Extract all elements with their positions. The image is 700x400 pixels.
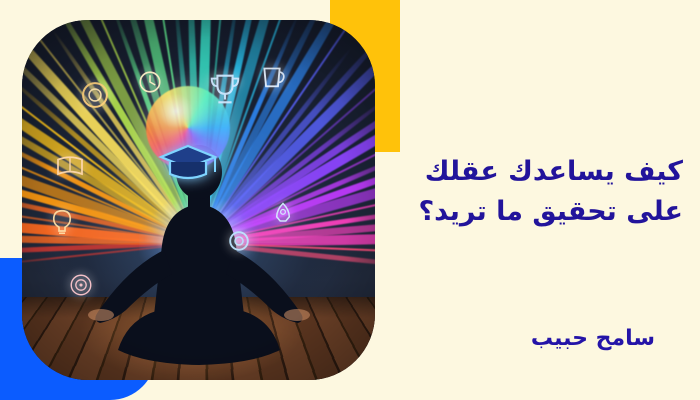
target-icon [68, 272, 94, 298]
headline-line-2: على تحقيق ما تريد؟ [383, 192, 683, 232]
article-cover-card: كيف يساعدك عقلك على تحقيق ما تريد؟ سامح … [0, 0, 700, 400]
headline-line-1: كيف يساعدك عقلك [383, 152, 683, 192]
photo-scene [22, 20, 375, 380]
coffee-cup-icon [255, 60, 289, 94]
cover-photo [22, 20, 375, 380]
book-icon [54, 150, 86, 182]
page-title: كيف يساعدك عقلك على تحقيق ما تريد؟ [383, 152, 683, 232]
rocket-icon [269, 200, 297, 228]
clock-icon [135, 67, 165, 97]
meditating-person-silhouette [22, 20, 375, 380]
trophy-icon [206, 70, 244, 108]
text-column: كيف يساعدك عقلك على تحقيق ما تريد؟ سامح … [383, 0, 683, 400]
graduation-cap-icon [157, 142, 219, 182]
lightbulb-icon [47, 207, 77, 237]
gear-icon [223, 225, 255, 257]
medal-icon [78, 78, 112, 112]
author-name: سامح حبيب [531, 324, 655, 354]
